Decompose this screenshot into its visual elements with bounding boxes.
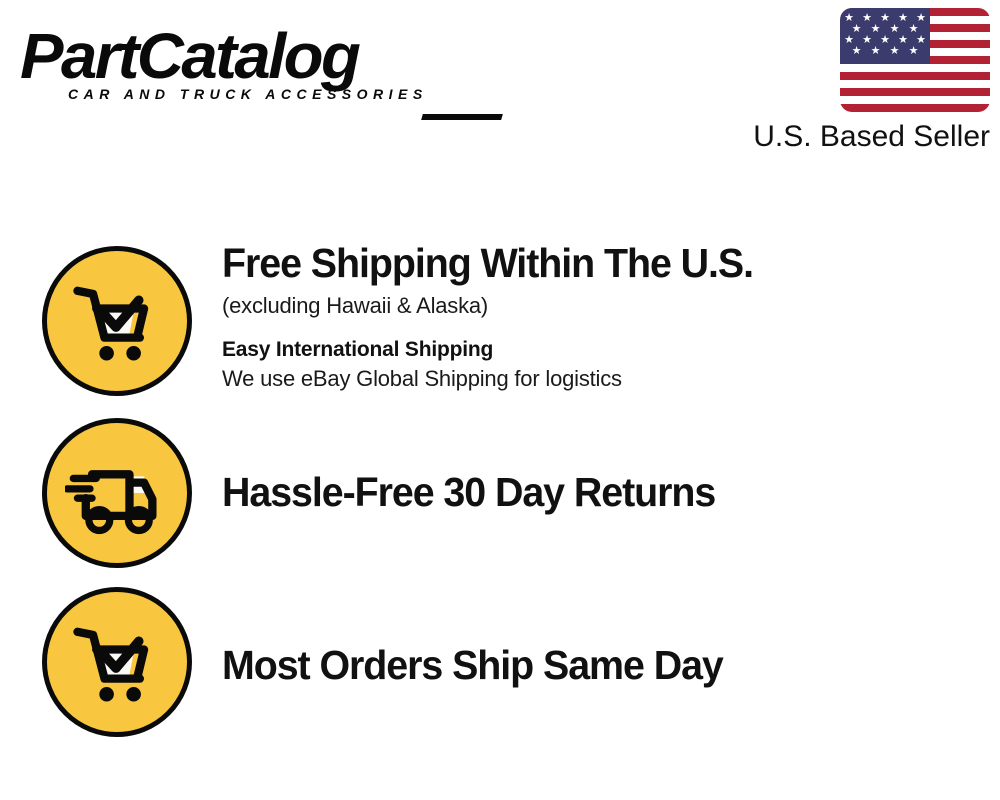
- delivery-truck-icon: [42, 418, 192, 568]
- shopping-cart-check-glyph: [65, 610, 169, 714]
- feature-title: Most Orders Ship Same Day: [222, 642, 952, 689]
- delivery-truck-glyph: [65, 441, 169, 545]
- feature-row: Hassle-Free 30 Day Returns: [0, 412, 1000, 582]
- us-flag-icon: ★★★★★ ★★★★ ★★★★★ ★★★★: [840, 8, 990, 112]
- brand-logo[interactable]: PartCatalog CAR AND TRUCK ACCESSORIES: [20, 22, 490, 117]
- flag-stripe: [840, 72, 990, 80]
- shopping-cart-check-icon: [42, 246, 192, 396]
- feature-subtitle: (excluding Hawaii & Alaska): [222, 291, 982, 321]
- feature-secondary-subtitle: We use eBay Global Shipping for logistic…: [222, 364, 982, 394]
- shopping-cart-check-glyph: [65, 269, 169, 373]
- seller-label: U.S. Based Seller: [710, 120, 990, 154]
- page-header: PartCatalog CAR AND TRUCK ACCESSORIES ★★…: [0, 0, 1000, 200]
- feature-row: Free Shipping Within The U.S. (excluding…: [0, 240, 1000, 410]
- feature-title: Hassle-Free 30 Day Returns: [222, 469, 952, 516]
- feature-text-block: Hassle-Free 30 Day Returns: [222, 469, 982, 516]
- feature-text-block: Free Shipping Within The U.S. (excluding…: [222, 240, 982, 394]
- brand-wordmark: PartCatalog: [20, 22, 499, 90]
- feature-text-block: Most Orders Ship Same Day: [222, 642, 982, 689]
- feature-title: Free Shipping Within The U.S.: [222, 240, 952, 287]
- shopping-cart-check-icon: [42, 587, 192, 737]
- flag-stripe: [840, 104, 990, 112]
- flag-star-row: ★★★★: [840, 46, 930, 57]
- flag-stripe: [840, 88, 990, 96]
- feature-secondary-title: Easy International Shipping: [222, 335, 982, 364]
- brand-underline-accent: [421, 114, 503, 120]
- flag-canton: ★★★★★ ★★★★ ★★★★★ ★★★★: [840, 8, 930, 64]
- feature-row: Most Orders Ship Same Day: [0, 585, 1000, 750]
- seller-badge: ★★★★★ ★★★★ ★★★★★ ★★★★ U.S. Based Seller: [710, 8, 990, 154]
